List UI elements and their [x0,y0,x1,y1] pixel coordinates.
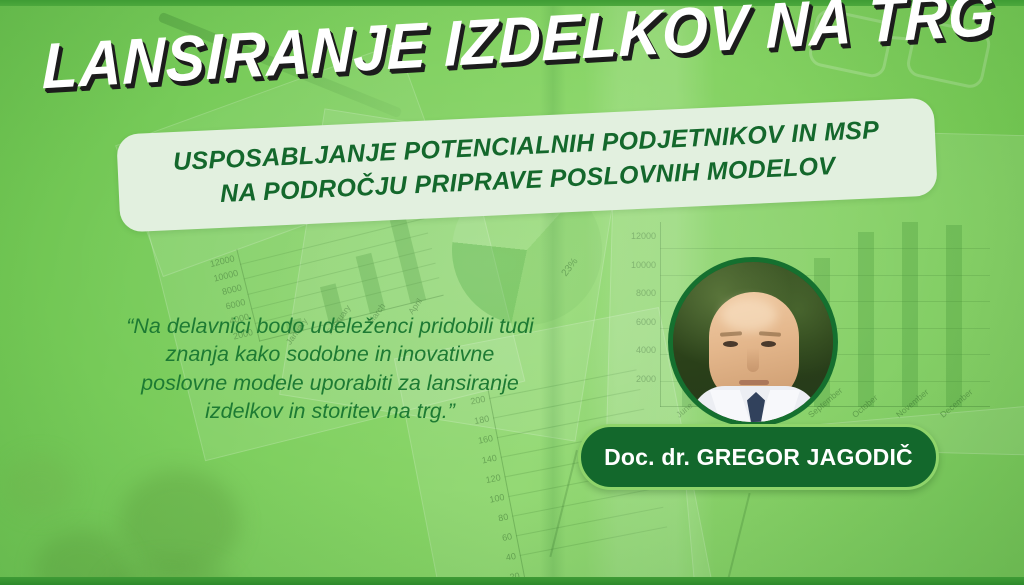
speaker-portrait [668,257,838,427]
poster: 12000 10000 8000 6000 4000 2000 June Jul… [0,0,1024,585]
bottom-edge-strip [0,577,1024,585]
portrait-nose [747,348,759,372]
speaker-name-badge: Doc. dr. GREGOR JAGODIČ [578,424,939,490]
portrait-eye-right [761,341,776,347]
portrait-photo [673,262,833,422]
quote-text: “Na delavnici bodo udeleženci pridobili … [120,312,540,426]
background-vignette [0,0,1024,585]
portrait-mouth [739,380,769,385]
portrait-eye-left [723,341,738,347]
portrait-forehead-highlight [721,298,777,332]
speaker-name-text: Doc. dr. GREGOR JAGODIČ [604,444,913,471]
top-edge-strip [0,0,1024,6]
